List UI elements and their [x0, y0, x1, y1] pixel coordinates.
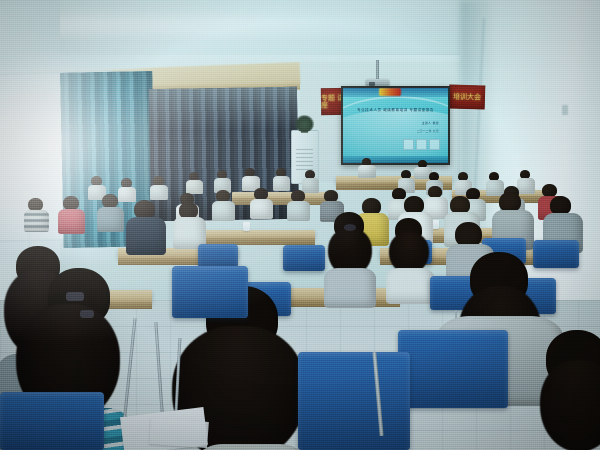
torso — [118, 187, 136, 202]
chair — [298, 352, 410, 450]
torso — [517, 178, 535, 194]
chair — [198, 244, 238, 268]
torso — [324, 268, 376, 308]
torso — [250, 199, 273, 219]
conference-room-photo: 专题 讲座 培训大会 专业技术人员 继续教育培训 专题讲座报告 主讲人 教授 二… — [0, 0, 600, 450]
head — [499, 192, 521, 212]
projected-slide: 专业技术人员 继续教育培训 专题讲座报告 主讲人 教授 二〇一二年 九月 — [343, 88, 448, 163]
head — [102, 194, 118, 208]
hair — [540, 360, 600, 450]
torso — [97, 207, 124, 232]
red-banner-right: 培训大会 — [449, 85, 486, 110]
paper-cup — [243, 222, 250, 231]
chair — [398, 330, 508, 408]
banner-right-text: 培训大会 — [449, 85, 486, 110]
torso — [126, 217, 166, 255]
notebook-paper — [149, 418, 209, 448]
wall-fixture-icon — [562, 105, 568, 115]
potted-plant — [295, 115, 314, 132]
torso — [24, 210, 49, 232]
projector-mount-pole — [376, 60, 379, 80]
hair-clip — [80, 310, 94, 318]
torso — [212, 201, 235, 221]
slide-subtitle: 主讲人 教授 — [391, 121, 439, 125]
torso — [386, 268, 434, 304]
slide-logo-icon — [379, 88, 401, 96]
hair-clip — [66, 292, 84, 301]
hair-clip — [344, 224, 356, 231]
torso — [358, 165, 376, 178]
slide-badges — [403, 139, 440, 150]
chair — [533, 240, 579, 268]
torso — [186, 180, 203, 194]
torso — [486, 180, 504, 196]
chair — [0, 392, 104, 450]
torso — [287, 201, 310, 221]
chair — [283, 245, 325, 271]
slide-badge-icon — [416, 139, 427, 150]
torso — [273, 176, 290, 191]
paper-cup — [432, 220, 439, 229]
slide-subtitle-2: 二〇一二年 九月 — [391, 130, 439, 134]
slide-footer — [343, 156, 448, 163]
torso — [150, 185, 168, 200]
chair — [172, 266, 248, 318]
projection-screen: 专业技术人员 继续教育培训 专题讲座报告 主讲人 教授 二〇一二年 九月 — [341, 86, 450, 165]
torso — [302, 178, 319, 193]
torso — [58, 209, 85, 234]
slide-badge-icon — [429, 139, 440, 150]
ac-vents — [296, 149, 313, 171]
slide-title: 专业技术人员 继续教育培训 专题讲座报告 — [349, 108, 442, 112]
head — [63, 196, 79, 210]
slide-badge-icon — [403, 139, 414, 150]
desk-row-1 — [232, 192, 337, 199]
